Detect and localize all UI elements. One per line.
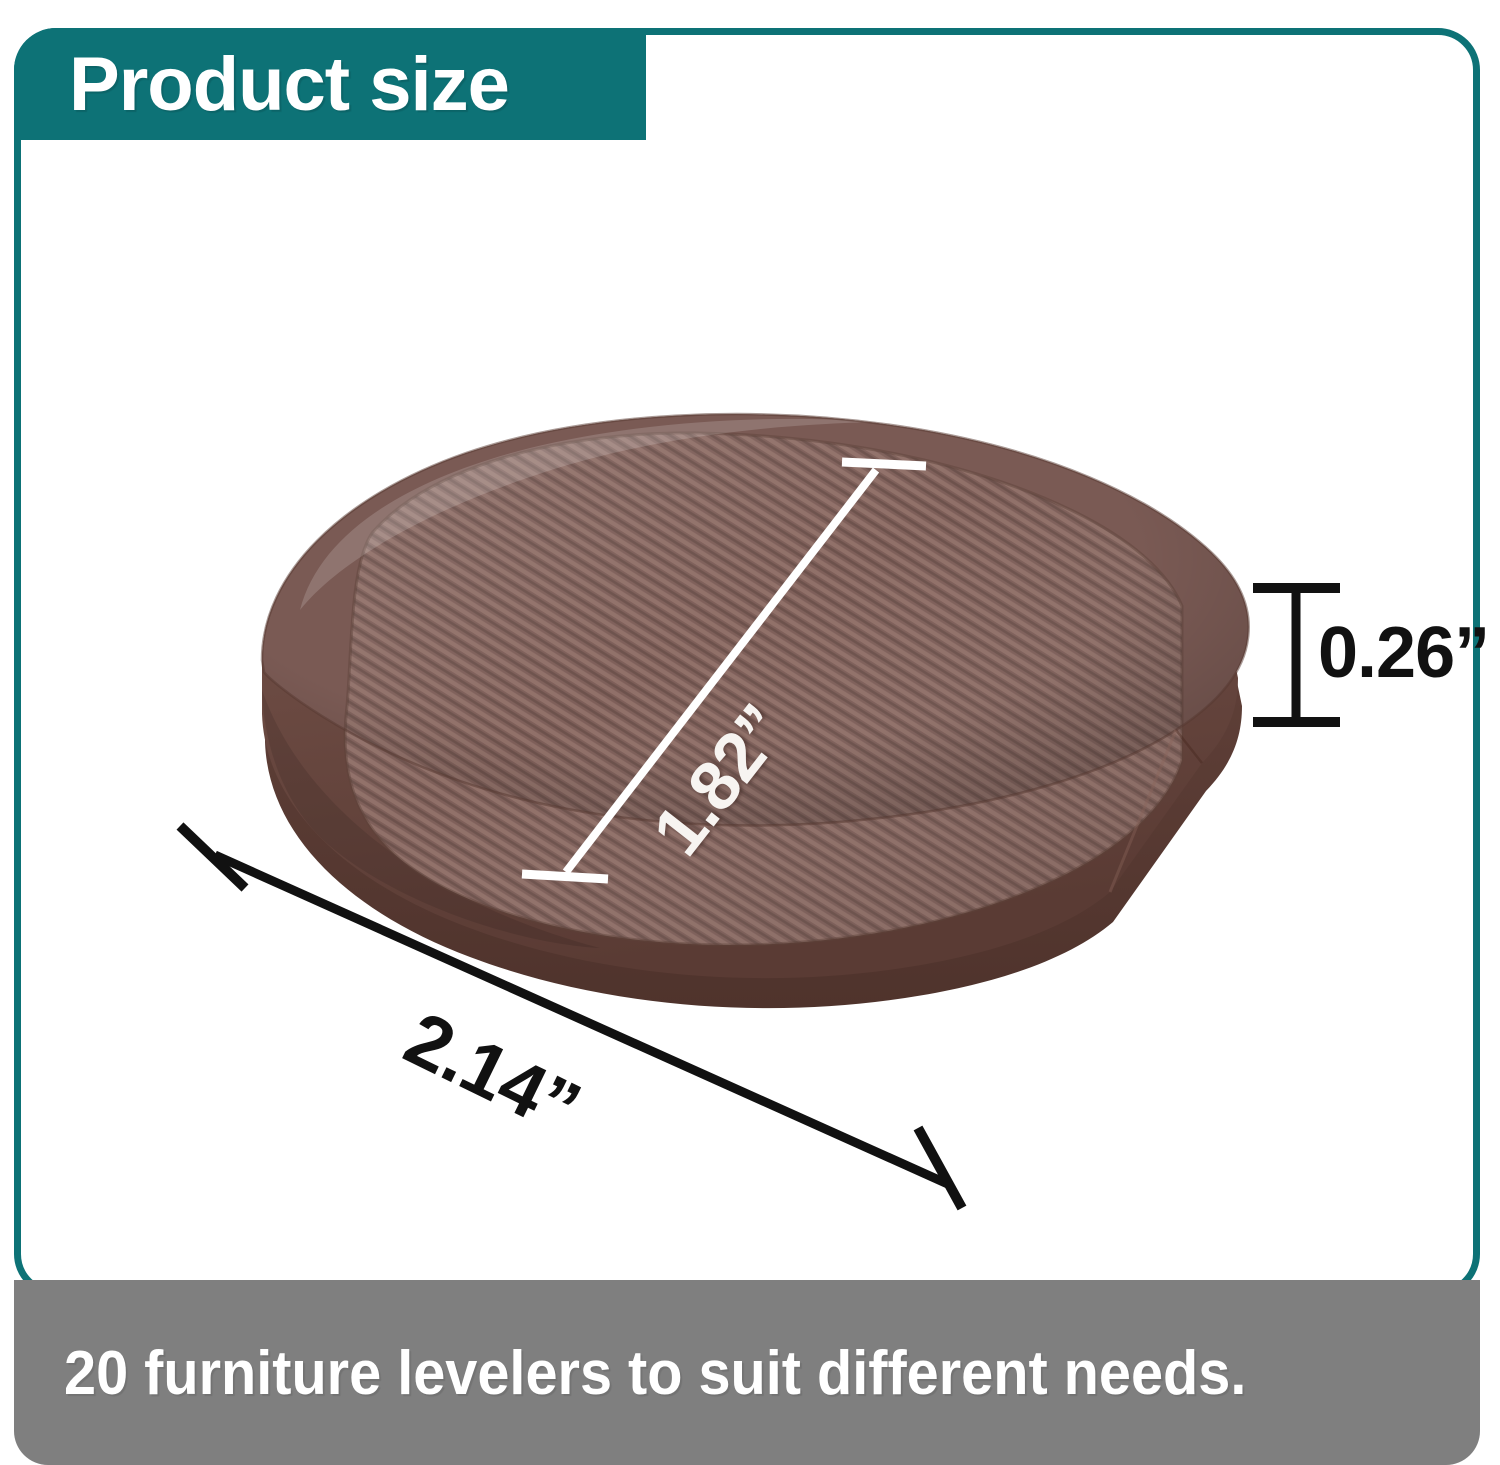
dimension-label-thickness: 0.26” [1318,612,1489,694]
product-size-infographic: 20 furniture levelers to suit different … [0,0,1500,1465]
footer-caption: 20 furniture levelers to suit different … [64,1338,1366,1409]
page-title: Product size [69,35,509,135]
content-frame [14,28,1480,1296]
header-tab: Product size [14,28,646,140]
footer-banner: 20 furniture levelers to suit different … [14,1280,1480,1465]
